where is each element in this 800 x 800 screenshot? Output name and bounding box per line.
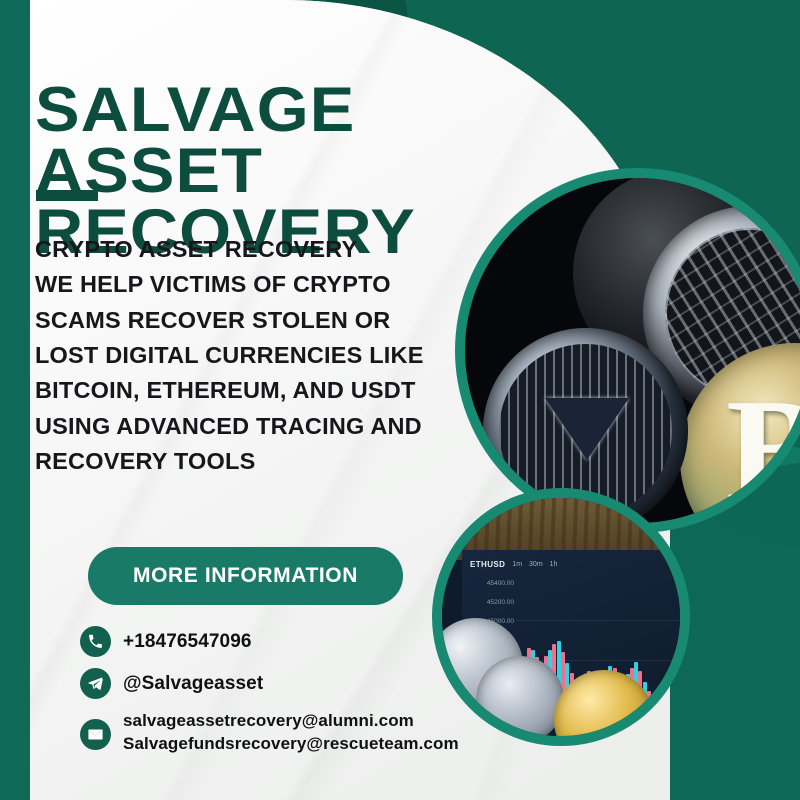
telegram-icon [80,668,111,699]
title-line-1: SALVAGE ASSET [35,75,355,206]
email-line-2: Salvagefundsrecovery@rescueteam.com [123,734,459,753]
body-line: USING ADVANCED TRACING AND [35,409,555,444]
price-label: 45200.00 [468,599,514,606]
screen-toolbar: ETHUSD 1m 30m 1h [470,556,684,572]
timeframe-1h: 1h [550,561,558,568]
price-label: 45400.00 [468,580,514,587]
bitcoin-icon: B [726,377,800,525]
body-line: SCAMS RECOVER STOLEN OR [35,303,555,338]
body-line: LOST DIGITAL CURRENCIES LIKE [35,338,555,373]
body-line: RECOVERY TOOLS [35,444,555,479]
body-line: WE HELP VICTIMS OF CRYPTO [35,267,555,302]
timeframe-1m: 1m [512,561,522,568]
phone-icon [80,626,111,657]
contact-phone[interactable]: +18476547096 [80,626,459,657]
silver-coin-small-2 [476,656,564,744]
phone-number: +18476547096 [123,631,252,653]
timeframe-30m: 30m [529,561,543,568]
email-addresses: salvageassetrecovery@alumni.com Salvagef… [123,710,459,755]
contact-block: +18476547096 @Salvageasset salvageassetr… [80,626,459,766]
title-underline [36,190,98,201]
chart-photo-inner: ETHUSD 1m 30m 1h 45400.00 45200.00 45000… [442,498,680,736]
more-information-button[interactable]: MORE INFORMATION [88,547,403,605]
telegram-handle: @Salvageasset [123,673,263,695]
chart-symbol: ETHUSD [470,560,505,569]
body-line: BITCOIN, ETHEREUM, AND USDT [35,373,555,408]
tron-icon [545,398,629,460]
body-line: CRYPTO ASSET RECOVERY [35,232,555,267]
body-copy: CRYPTO ASSET RECOVERY WE HELP VICTIMS OF… [35,232,555,480]
trading-chart-photo: ETHUSD 1m 30m 1h 45400.00 45200.00 45000… [432,488,690,746]
contact-telegram[interactable]: @Salvageasset [80,668,459,699]
contact-email[interactable]: salvageassetrecovery@alumni.com Salvagef… [80,710,459,755]
email-line-1: salvageassetrecovery@alumni.com [123,711,414,730]
poster-canvas: SALVAGE ASSET RECOVERY CRYPTO ASSET RECO… [0,0,800,800]
email-icon [80,719,111,750]
